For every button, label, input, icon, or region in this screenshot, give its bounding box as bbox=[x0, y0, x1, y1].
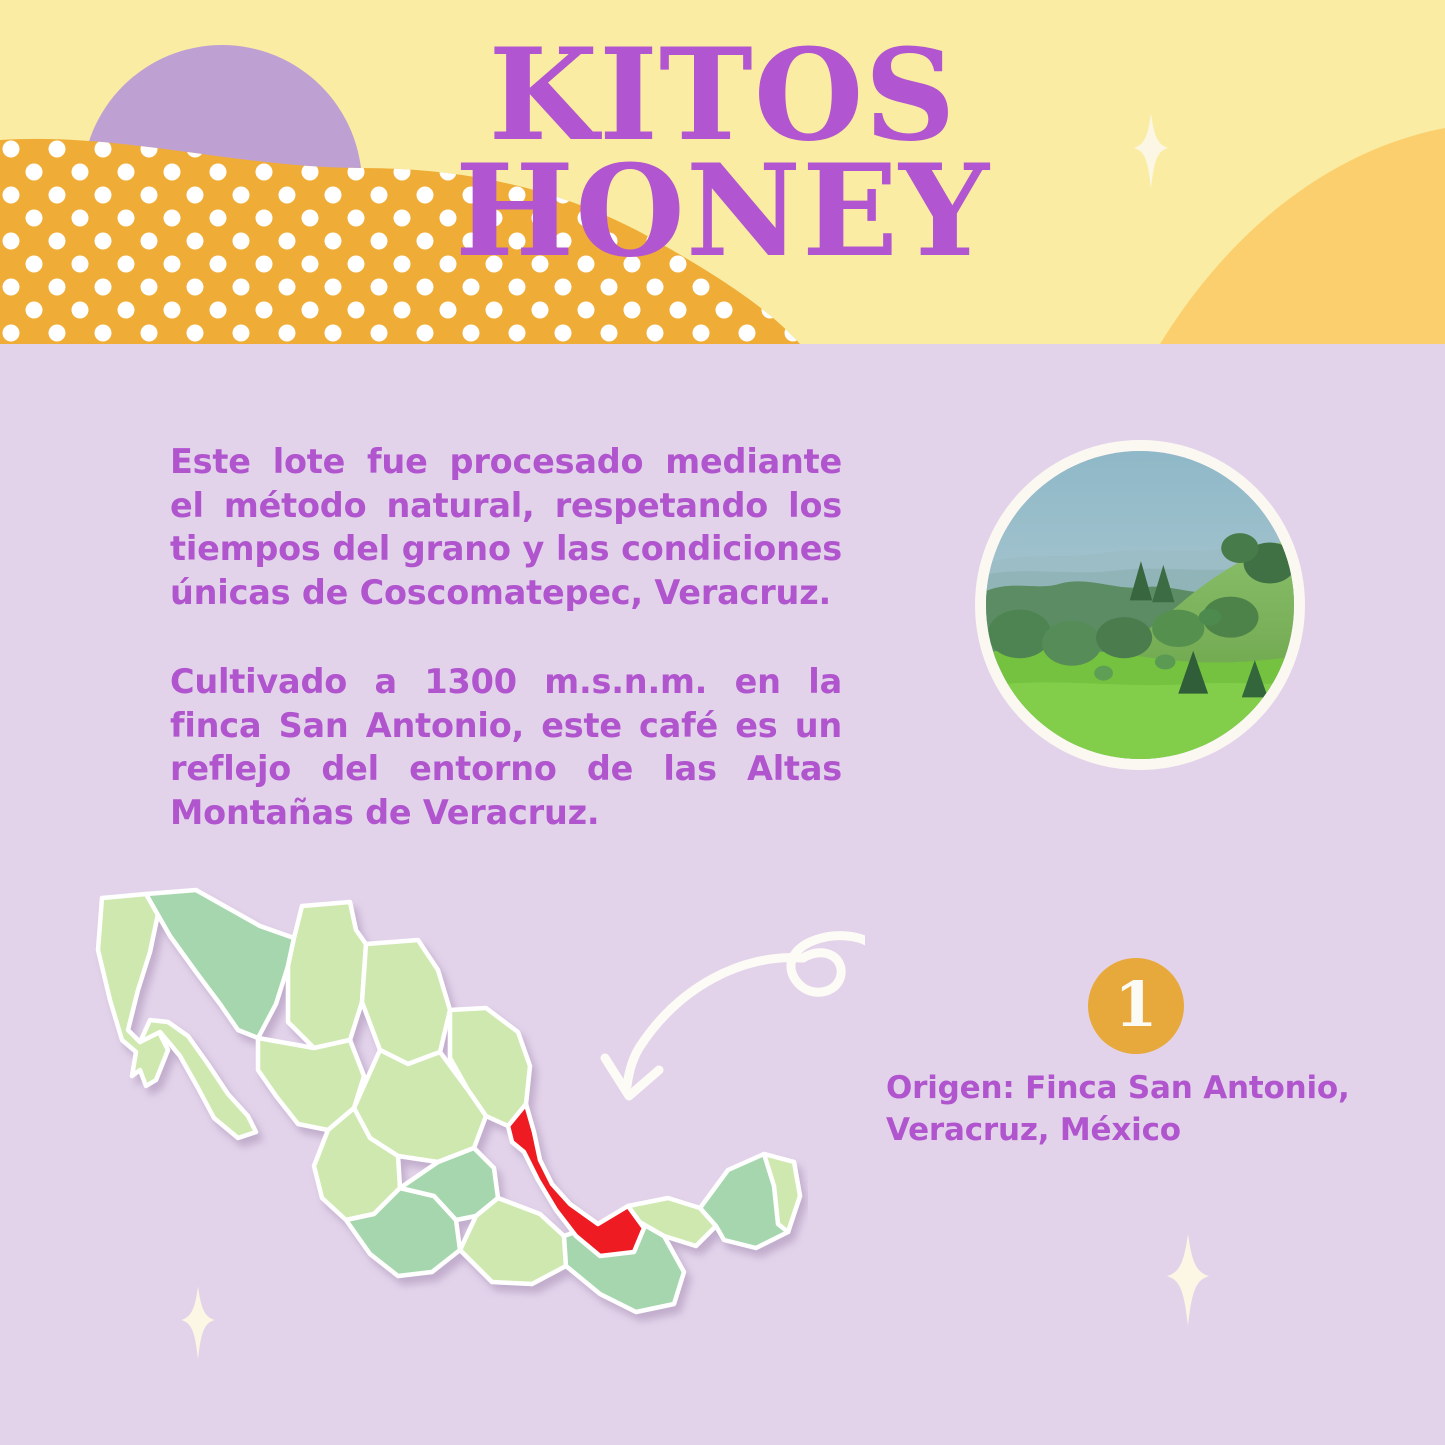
description-paragraph-2: Cultivado a 1300 m.s.n.m. en la finca Sa… bbox=[170, 660, 842, 834]
sparkle-icon-bottom-left bbox=[160, 1285, 236, 1361]
map-state-chihuahua bbox=[288, 902, 366, 1048]
sparkle-icon bbox=[160, 1285, 236, 1361]
curved-arrow-icon bbox=[575, 930, 865, 1130]
sparkle-icon-top-right bbox=[1112, 112, 1190, 190]
poster-canvas: KITOS HONEY Este lote fue procesado medi… bbox=[0, 0, 1445, 1445]
farm-landscape-photo bbox=[975, 440, 1305, 770]
sparkle-icon bbox=[1140, 1232, 1236, 1328]
map-state-sonora bbox=[146, 890, 294, 1038]
sparkle-icon-bottom-right bbox=[1140, 1232, 1236, 1328]
description-block: Este lote fue procesado mediante el méto… bbox=[170, 440, 842, 834]
map-state-coahuila bbox=[362, 940, 450, 1064]
brand-title-line-2: HONEY bbox=[0, 154, 1445, 270]
landscape-illustration bbox=[986, 451, 1294, 759]
origin-label: Origen: Finca San Antonio, Veracruz, Méx… bbox=[886, 1068, 1406, 1151]
step-badge: 1 bbox=[1088, 958, 1184, 1054]
map-state-baja-norte bbox=[98, 894, 168, 1086]
header-banner: KITOS HONEY bbox=[0, 0, 1445, 344]
description-paragraph-1: Este lote fue procesado mediante el méto… bbox=[170, 440, 842, 614]
step-badge-number: 1 bbox=[1114, 974, 1157, 1036]
brand-title: KITOS HONEY bbox=[0, 38, 1445, 270]
sparkle-icon bbox=[1112, 112, 1190, 190]
pointer-arrow bbox=[575, 930, 865, 1130]
